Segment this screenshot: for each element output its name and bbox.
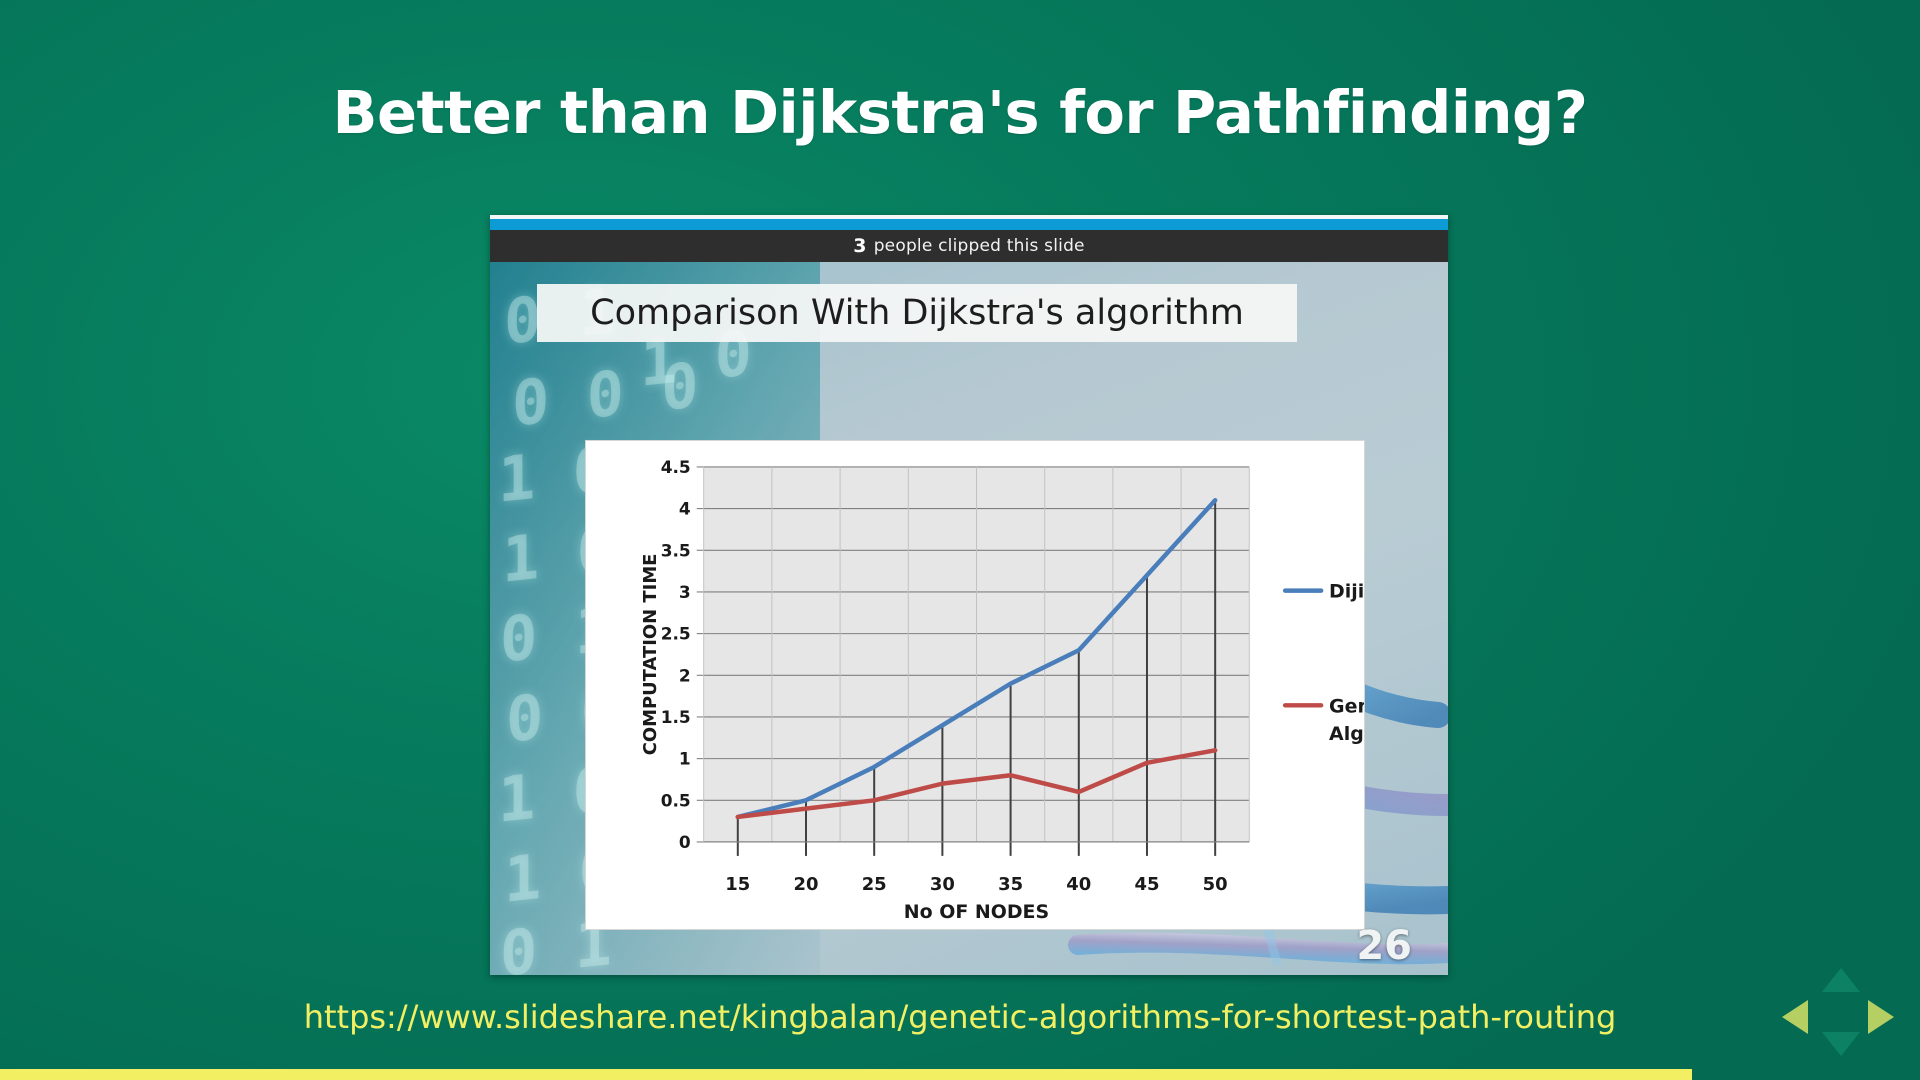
bottom-accent-strip	[0, 1069, 1692, 1080]
svg-text:0.5: 0.5	[661, 790, 691, 810]
slide-content-area: 0 1 0 0 0 1 0 1 0 0 1 0 0 1 0 1 0 0 1 1 …	[490, 262, 1448, 975]
svg-text:25: 25	[862, 874, 887, 895]
svg-text:2: 2	[679, 665, 691, 685]
svg-text:4.5: 4.5	[661, 457, 691, 477]
svg-text:Genetic: Genetic	[1329, 695, 1364, 717]
svg-text:COMPUTATION TIME: COMPUTATION TIME	[640, 554, 661, 756]
svg-text:4: 4	[679, 499, 691, 519]
clipped-slide-banner: 3 people clipped this slide	[490, 230, 1448, 262]
svg-text:40: 40	[1066, 874, 1091, 895]
chart-card: 00.511.522.533.544.51520253035404550No O…	[585, 440, 1365, 930]
svg-text:1.5: 1.5	[661, 707, 691, 727]
svg-text:1: 1	[679, 749, 691, 769]
bottom-accent-strip-tail	[1692, 1069, 1920, 1080]
slide-navigation-controls[interactable]	[1778, 966, 1898, 1058]
clip-count: 3	[853, 235, 866, 257]
clip-banner-text: people clipped this slide	[874, 236, 1085, 256]
comparison-line-chart: 00.511.522.533.544.51520253035404550No O…	[586, 441, 1364, 930]
svg-text:50: 50	[1203, 874, 1228, 895]
svg-text:Dijistkra: Dijistkra	[1329, 581, 1364, 603]
svg-text:45: 45	[1134, 874, 1159, 895]
nav-prev-arrow-icon[interactable]	[1782, 1000, 1808, 1034]
svg-text:3: 3	[679, 582, 691, 602]
source-url-link[interactable]: https://www.slideshare.net/kingbalan/gen…	[0, 998, 1920, 1036]
svg-text:0: 0	[679, 832, 691, 852]
svg-text:15: 15	[725, 874, 750, 895]
svg-text:2.5: 2.5	[661, 624, 691, 644]
slide-page-number: 26	[1356, 923, 1412, 969]
nav-down-arrow-icon[interactable]	[1822, 1032, 1860, 1056]
slideshare-blue-bar	[490, 219, 1448, 230]
nav-next-arrow-icon[interactable]	[1868, 1000, 1894, 1034]
svg-text:Algorithm: Algorithm	[1329, 723, 1364, 745]
svg-text:No OF NODES: No OF NODES	[904, 901, 1049, 923]
nav-up-arrow-icon[interactable]	[1822, 968, 1860, 992]
svg-text:3.5: 3.5	[661, 540, 691, 560]
page-title: Better than Dijkstra's for Pathfinding?	[0, 78, 1920, 147]
embedded-slide-screenshot: 3 people clipped this slide 0 1 0 0 0 1 …	[490, 215, 1448, 975]
svg-text:20: 20	[794, 874, 819, 895]
svg-text:35: 35	[998, 874, 1023, 895]
chart-heading: Comparison With Dijkstra's algorithm	[537, 284, 1297, 342]
svg-text:30: 30	[930, 874, 955, 895]
